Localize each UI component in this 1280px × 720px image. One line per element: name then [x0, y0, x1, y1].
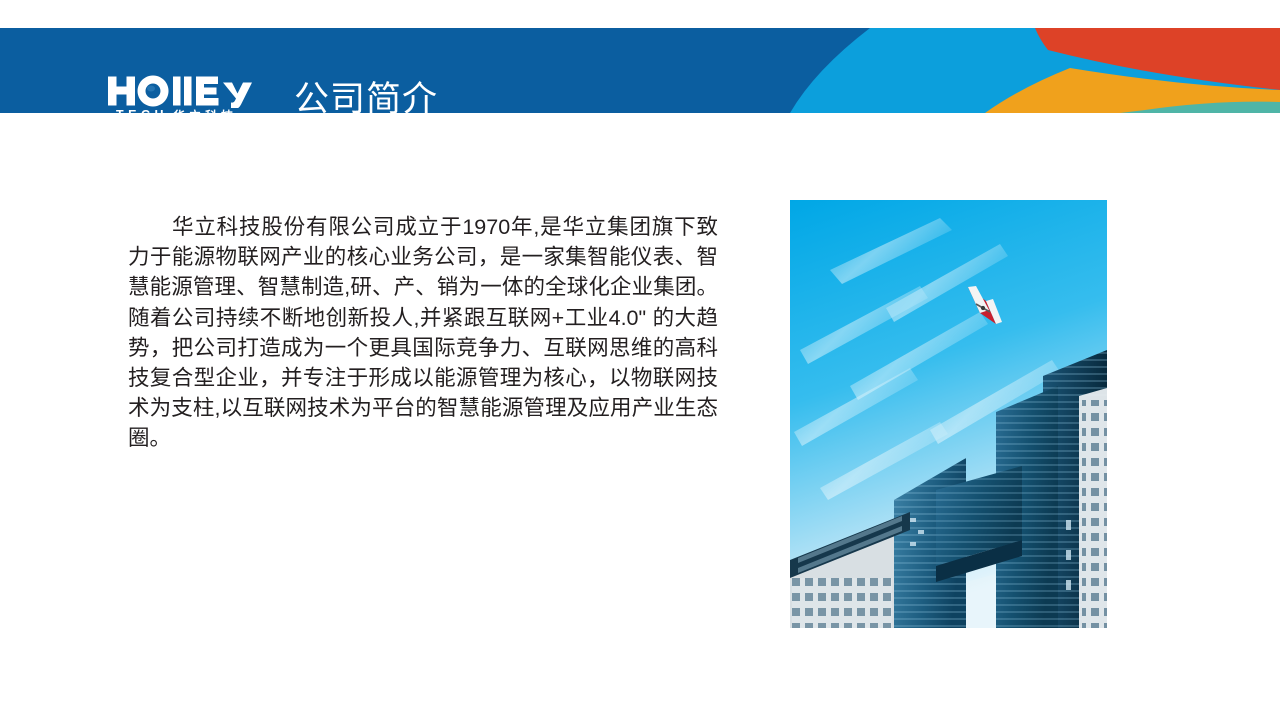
logo-o-highlight	[147, 86, 155, 92]
company-introduction-paragraph: 华立科技股份有限公司成立于1970年,是华立集团旗下致力于能源物联网产业的核心业…	[128, 212, 718, 454]
slide-canvas: TECH 华立科技 公司简介 华立科技股份有限公司成立于1970年,是华立集团旗…	[0, 0, 1280, 720]
holley-wordmark-icon	[107, 74, 272, 108]
logo-chinese-label: 华立科技	[173, 110, 237, 114]
slide-header-band: TECH 华立科技 公司简介	[0, 28, 1280, 113]
logo-subline: TECH 华立科技	[107, 107, 272, 113]
logo-tech-label: TECH	[116, 109, 168, 113]
page-title: 公司简介	[294, 76, 438, 113]
company-building-photo	[790, 200, 1107, 628]
building-photo-illustration	[790, 200, 1107, 628]
holley-logo: TECH 华立科技	[107, 74, 272, 113]
